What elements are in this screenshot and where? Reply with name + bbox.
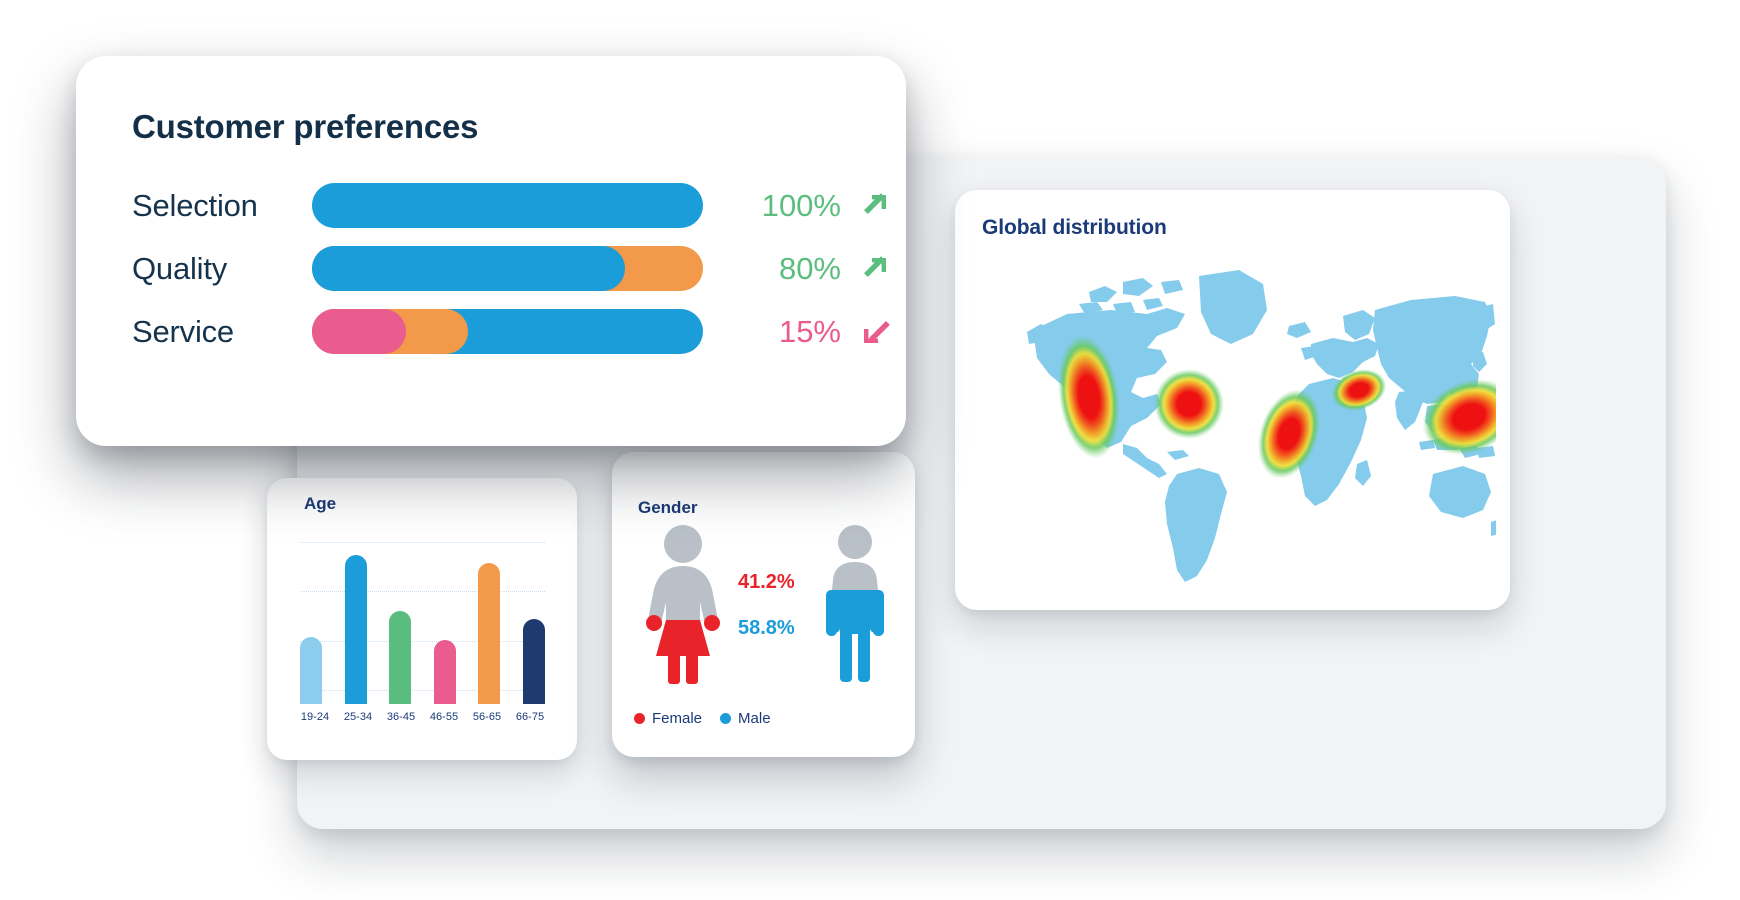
female-percent: 41.2% bbox=[738, 572, 828, 592]
preference-rows: Selection100%Quality80%Service15% bbox=[132, 174, 862, 363]
age-axis-label: 19-24 bbox=[295, 711, 335, 723]
age-axis-labels: 19-2425-3436-4546-5556-6566-75 bbox=[295, 711, 550, 723]
male-pictogram bbox=[824, 524, 886, 684]
age-axis-label: 25-34 bbox=[338, 711, 378, 723]
global-distribution-card: Global distribution bbox=[955, 190, 1510, 610]
age-bars-group bbox=[300, 528, 545, 704]
age-bar[interactable] bbox=[300, 637, 322, 704]
preference-percent: 80% bbox=[703, 251, 841, 287]
legend-label: Male bbox=[738, 710, 771, 727]
preference-label: Quality bbox=[132, 251, 312, 287]
customer-preferences-card: Customer preferences Selection100%Qualit… bbox=[76, 56, 906, 446]
hotspot-eastern-north-america bbox=[1154, 369, 1224, 439]
gender-legend: FemaleMale bbox=[634, 710, 771, 727]
age-axis-label: 46-55 bbox=[424, 711, 464, 723]
gender-card-title: Gender bbox=[638, 498, 698, 518]
arrow-up-right-icon bbox=[855, 191, 895, 221]
world-heatmap bbox=[971, 252, 1496, 592]
age-bar-chart bbox=[300, 528, 545, 704]
legend-item[interactable]: Male bbox=[720, 710, 771, 727]
gender-card: Gender bbox=[612, 452, 915, 757]
age-card: Age 19-2425-3436-4546-5556-6566-75 bbox=[267, 478, 577, 760]
arrow-down-left-icon bbox=[855, 317, 895, 347]
preference-row: Selection100% bbox=[132, 174, 862, 237]
age-bar[interactable] bbox=[434, 640, 456, 704]
dashboard-stage: Global distribution bbox=[0, 0, 1740, 900]
legend-label: Female bbox=[652, 710, 702, 727]
preference-bar[interactable] bbox=[312, 309, 703, 354]
male-percent: 58.8% bbox=[738, 618, 828, 638]
gender-percentages: 41.2% 58.8% bbox=[738, 572, 828, 664]
female-pictogram bbox=[644, 524, 722, 684]
preference-percent: 100% bbox=[703, 188, 841, 224]
age-axis-label: 56-65 bbox=[467, 711, 507, 723]
age-bar[interactable] bbox=[478, 563, 500, 704]
age-axis-label: 66-75 bbox=[510, 711, 550, 723]
bar-segment-blue bbox=[312, 183, 703, 228]
preference-label: Selection bbox=[132, 188, 312, 224]
bar-segment-blue bbox=[312, 246, 625, 291]
age-bar[interactable] bbox=[523, 619, 545, 704]
page-title: Customer preferences bbox=[132, 108, 478, 146]
age-card-title: Age bbox=[304, 494, 336, 514]
age-axis-label: 36-45 bbox=[381, 711, 421, 723]
preference-row: Service15% bbox=[132, 300, 862, 363]
bar-segment-pink bbox=[312, 309, 406, 354]
preference-bar[interactable] bbox=[312, 246, 703, 291]
gender-pictograms: 41.2% 58.8% bbox=[626, 524, 901, 694]
legend-item[interactable]: Female bbox=[634, 710, 702, 727]
age-bar[interactable] bbox=[389, 611, 411, 704]
preference-bar[interactable] bbox=[312, 183, 703, 228]
global-distribution-title: Global distribution bbox=[982, 216, 1167, 240]
arrow-up-right-icon bbox=[855, 254, 895, 284]
legend-dot-icon bbox=[634, 713, 645, 724]
preference-row: Quality80% bbox=[132, 237, 862, 300]
preference-label: Service bbox=[132, 314, 312, 350]
preference-percent: 15% bbox=[703, 314, 841, 350]
age-bar[interactable] bbox=[345, 555, 367, 704]
legend-dot-icon bbox=[720, 713, 731, 724]
